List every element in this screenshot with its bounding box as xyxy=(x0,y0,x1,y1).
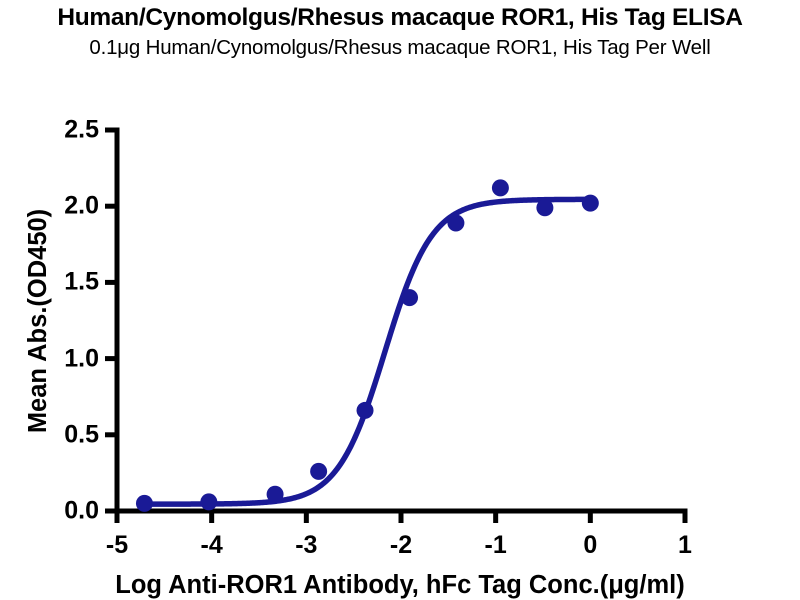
x-tick-label: -4 xyxy=(192,531,232,560)
data-point-marker xyxy=(136,495,153,512)
x-tick-label: -2 xyxy=(381,531,421,560)
y-axis-label: Mean Abs.(OD450) xyxy=(24,208,53,432)
plot-area xyxy=(0,0,800,600)
data-point-marker xyxy=(310,463,327,480)
x-tick-label: -1 xyxy=(476,531,516,560)
x-tick-label: -3 xyxy=(286,531,326,560)
data-points xyxy=(136,179,599,511)
fit-curve xyxy=(144,199,590,504)
y-tick-label: 2.5 xyxy=(35,116,99,145)
data-point-marker xyxy=(200,493,217,510)
x-tick-label: 1 xyxy=(665,531,705,560)
y-tick-label: 0.0 xyxy=(35,497,99,526)
fit-curve-path xyxy=(144,199,590,504)
data-point-marker xyxy=(447,214,464,231)
x-axis-label: Log Anti-ROR1 Antibody, hFc Tag Conc.(μg… xyxy=(0,571,800,600)
data-point-marker xyxy=(492,179,509,196)
data-point-marker xyxy=(401,289,418,306)
x-tick-label: 0 xyxy=(570,531,610,560)
x-tick-label: -5 xyxy=(97,531,137,560)
data-point-marker xyxy=(582,195,599,212)
data-point-marker xyxy=(357,402,374,419)
chart-page: Human/Cynomolgus/Rhesus macaque ROR1, Hi… xyxy=(0,0,800,600)
data-point-marker xyxy=(267,486,284,503)
data-point-marker xyxy=(536,199,553,216)
